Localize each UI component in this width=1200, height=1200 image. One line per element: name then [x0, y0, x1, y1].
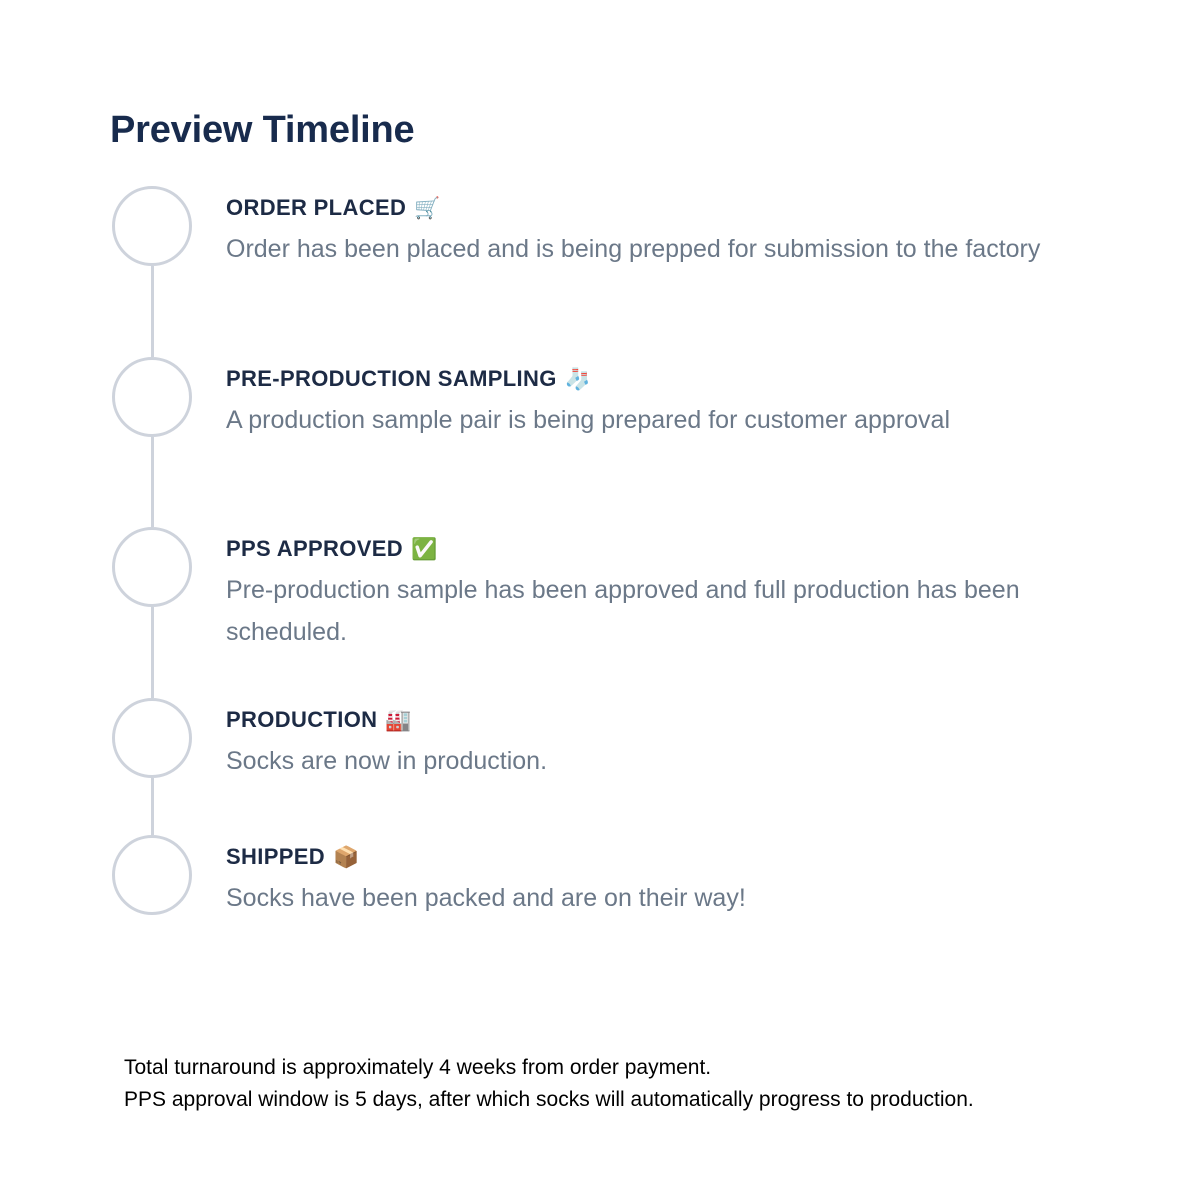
timeline-connector-line: [151, 266, 154, 357]
footnote-line-pps-window: PPS approval window is 5 days, after whi…: [124, 1084, 974, 1116]
timeline-step-circle-icon[interactable]: [112, 698, 192, 778]
shopping-cart-icon: 🛒: [414, 197, 440, 220]
timeline-step-label: SHIPPED: [226, 844, 325, 869]
timeline-step-circle-icon[interactable]: [112, 835, 192, 915]
preview-timeline-page: Preview Timeline ORDER PLACED🛒 Order has…: [0, 0, 1200, 1200]
timeline-connector-line: [151, 778, 154, 835]
factory-icon: 🏭: [385, 709, 411, 732]
timeline-step-heading: PRODUCTION🏭: [226, 706, 1120, 734]
timeline-step-content: PRODUCTION🏭 Socks are now in production.: [194, 698, 1120, 782]
timeline-step-heading: PPS APPROVED✅: [226, 535, 1120, 563]
timeline-step-heading: SHIPPED📦: [226, 843, 1120, 871]
timeline-marker: [110, 186, 194, 266]
timeline-step-circle-icon[interactable]: [112, 357, 192, 437]
timeline-step-description: A production sample pair is being prepar…: [226, 399, 1071, 441]
timeline-step-description: Order has been placed and is being prepp…: [226, 228, 1071, 270]
timeline-marker: [110, 698, 194, 778]
timeline-step-pps-approved[interactable]: PPS APPROVED✅ Pre-production sample has …: [110, 527, 1120, 698]
timeline-connector-line: [151, 607, 154, 698]
timeline-marker: [110, 835, 194, 915]
timeline-connector-line: [151, 437, 154, 527]
timeline-step-production[interactable]: PRODUCTION🏭 Socks are now in production.: [110, 698, 1120, 835]
footnote: Total turnaround is approximately 4 week…: [124, 1052, 974, 1115]
timeline-step-content: PPS APPROVED✅ Pre-production sample has …: [194, 527, 1120, 653]
timeline-step-shipped[interactable]: SHIPPED📦 Socks have been packed and are …: [110, 835, 1120, 925]
timeline-step-circle-icon[interactable]: [112, 186, 192, 266]
timeline-step-content: PRE-PRODUCTION SAMPLING🧦 A production sa…: [194, 357, 1120, 441]
timeline-step-description: Socks are now in production.: [226, 740, 1120, 782]
timeline-step-content: SHIPPED📦 Socks have been packed and are …: [194, 835, 1120, 919]
package-icon: 📦: [333, 846, 359, 869]
timeline-step-heading: PRE-PRODUCTION SAMPLING🧦: [226, 365, 1120, 393]
footnote-line-turnaround: Total turnaround is approximately 4 week…: [124, 1052, 974, 1084]
timeline-step-order-placed[interactable]: ORDER PLACED🛒 Order has been placed and …: [110, 186, 1120, 357]
timeline-step-label: PRE-PRODUCTION SAMPLING: [226, 366, 557, 391]
timeline-step-heading: ORDER PLACED🛒: [226, 194, 1120, 222]
page-title: Preview Timeline: [110, 110, 414, 152]
timeline-step-label: PPS APPROVED: [226, 536, 403, 561]
timeline-step-content: ORDER PLACED🛒 Order has been placed and …: [194, 186, 1120, 270]
check-mark-button-icon: ✅: [411, 538, 437, 561]
timeline-step-pre-production-sampling[interactable]: PRE-PRODUCTION SAMPLING🧦 A production sa…: [110, 357, 1120, 527]
timeline-marker: [110, 357, 194, 437]
socks-icon: 🧦: [565, 368, 591, 391]
timeline-step-label: PRODUCTION: [226, 707, 377, 732]
timeline-list: ORDER PLACED🛒 Order has been placed and …: [110, 186, 1120, 925]
timeline-step-circle-icon[interactable]: [112, 527, 192, 607]
timeline-step-description: Pre-production sample has been approved …: [226, 569, 1071, 653]
timeline-step-label: ORDER PLACED: [226, 195, 406, 220]
timeline-step-description: Socks have been packed and are on their …: [226, 877, 1120, 919]
timeline-marker: [110, 527, 194, 607]
